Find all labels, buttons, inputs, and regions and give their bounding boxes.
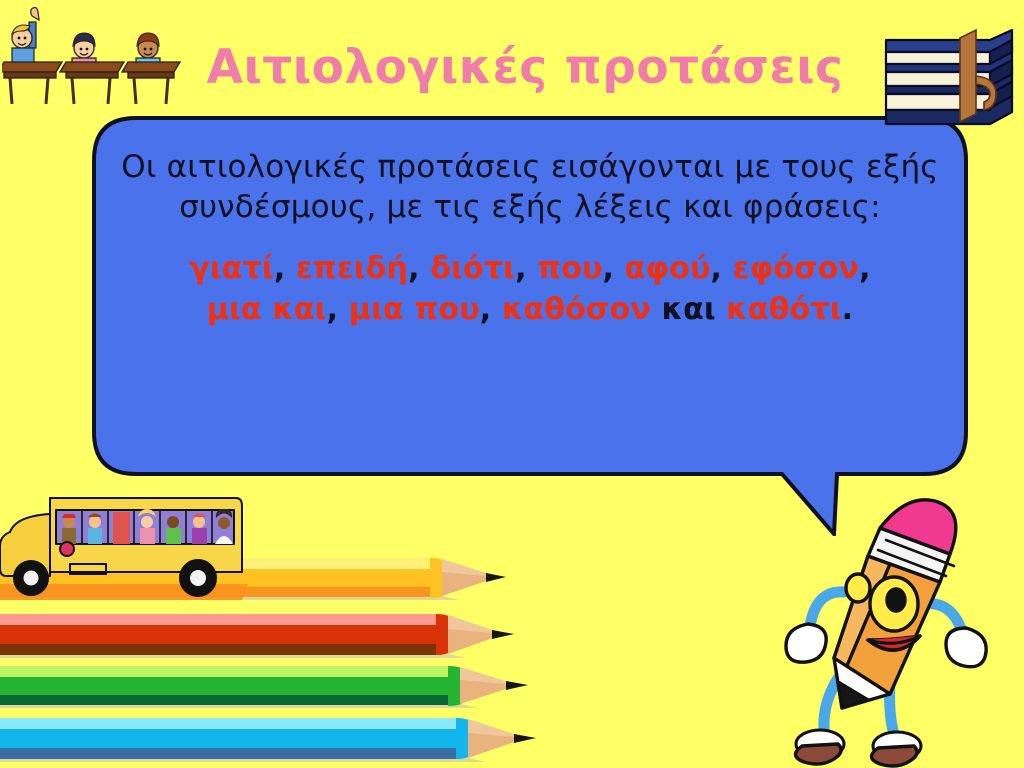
conjunction-separator: .	[842, 292, 854, 327]
bubble-paragraph-intro: Οι αιτιολογικές προτάσεις εισάγονται με …	[118, 148, 942, 227]
conjunction-separator: ,	[274, 251, 296, 286]
conjunction-separator: ,	[327, 292, 349, 327]
green-pencil-image	[0, 664, 532, 714]
speech-bubble: Οι αιτιολογικές προτάσεις εισάγονται με …	[92, 116, 968, 536]
conjunction-separator: ,	[408, 251, 430, 286]
conjunction-keyword: διότι	[430, 251, 515, 286]
pencil-mascot-image	[772, 496, 1022, 768]
blue-pencil-image	[0, 716, 542, 768]
conjunction-keyword: εφόσον	[733, 251, 859, 286]
conjunction-keyword: καθόσον	[502, 292, 651, 327]
conjunction-separator: ,	[480, 292, 502, 327]
conjunction-keyword: αφού	[625, 251, 711, 286]
bubble-conjunction-list: γιατί, επειδή, διότι, που, αφού, εφόσον,…	[118, 249, 942, 329]
conjunction-line-1: γιατί, επειδή, διότι, που, αφού, εφόσον,	[118, 249, 942, 289]
conjunction-keyword: επειδή	[296, 251, 408, 286]
conjunction-separator: ,	[515, 251, 537, 286]
students-at-desks-image	[2, 4, 182, 108]
conjunction-separator: ,	[711, 251, 733, 286]
slide-canvas: Οι αιτιολογικές προτάσεις εισάγονται με …	[0, 0, 1024, 768]
conjunction-separator: ,	[603, 251, 625, 286]
conjunction-separator: και	[651, 292, 727, 327]
conjunction-keyword: που	[537, 251, 602, 286]
stack-of-books-image	[864, 22, 1022, 126]
conjunction-keyword: καθότι	[726, 292, 841, 327]
conjunction-line-2: μια και, μια που, καθόσον και καθότι.	[118, 290, 942, 330]
conjunction-keyword: μια και	[207, 292, 327, 327]
conjunction-keyword: γιατί	[189, 251, 274, 286]
red-pencil-image	[0, 612, 518, 664]
conjunction-keyword: μια που	[349, 292, 480, 327]
page-title: Αιτιολογικές προτάσεις	[185, 32, 865, 102]
conjunction-separator: ,	[859, 251, 871, 286]
school-bus-image	[0, 492, 248, 600]
